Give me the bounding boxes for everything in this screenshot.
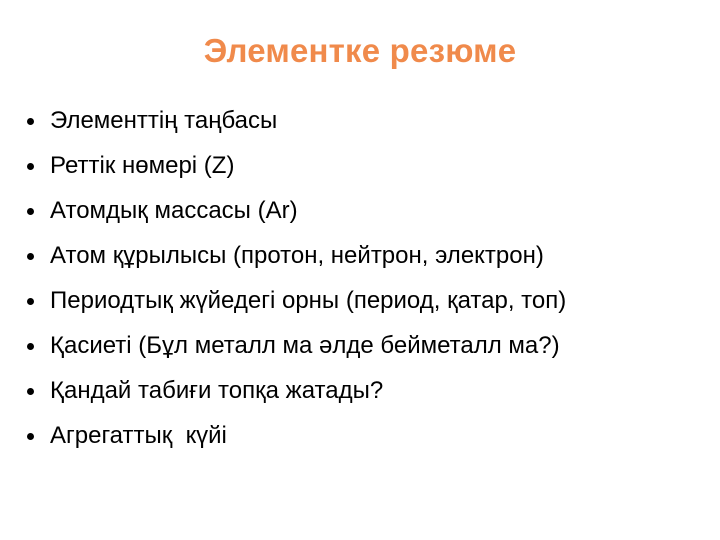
bullet-point-icon: [24, 329, 50, 363]
list-item-label: Атомдық массасы (Ar): [50, 194, 714, 228]
bullet-point-icon: [24, 149, 50, 183]
bullet-point-icon: [24, 374, 50, 408]
bullet-list: Элементтің таңбасы Реттік нөмері (Z) Ато…: [24, 104, 714, 464]
list-item: Атомдық массасы (Ar): [24, 194, 714, 239]
list-item-label: Реттік нөмері (Z): [50, 149, 714, 183]
list-item: Реттік нөмері (Z): [24, 149, 714, 194]
bullet-point-icon: [24, 419, 50, 453]
page-title: Элементке резюме: [0, 33, 720, 69]
list-item: Элементтің таңбасы: [24, 104, 714, 149]
list-item: Агрегаттық күйі: [24, 419, 714, 464]
list-item-label: Қандай табиғи топқа жатады?: [50, 374, 714, 408]
list-item-label: Агрегаттық күйі: [50, 419, 714, 453]
list-item: Қасиеті (Бұл металл ма әлде бейметалл ма…: [24, 329, 714, 374]
bullet-point-icon: [24, 194, 50, 228]
list-item-label: Элементтің таңбасы: [50, 104, 714, 138]
list-item-label: Атом құрылысы (протон, нейтрон, электрон…: [50, 239, 714, 273]
list-item-label: Қасиеті (Бұл металл ма әлде бейметалл ма…: [50, 329, 714, 363]
list-item: Атом құрылысы (протон, нейтрон, электрон…: [24, 239, 714, 284]
bullet-point-icon: [24, 239, 50, 273]
bullet-point-icon: [24, 284, 50, 318]
list-item: Қандай табиғи топқа жатады?: [24, 374, 714, 419]
list-item-label: Периодтық жүйедегі орны (период, қатар, …: [50, 284, 714, 318]
slide-canvas: Элементке резюме Элементтің таңбасы Ретт…: [0, 0, 720, 540]
bullet-point-icon: [24, 104, 50, 138]
list-item: Периодтық жүйедегі орны (период, қатар, …: [24, 284, 714, 329]
